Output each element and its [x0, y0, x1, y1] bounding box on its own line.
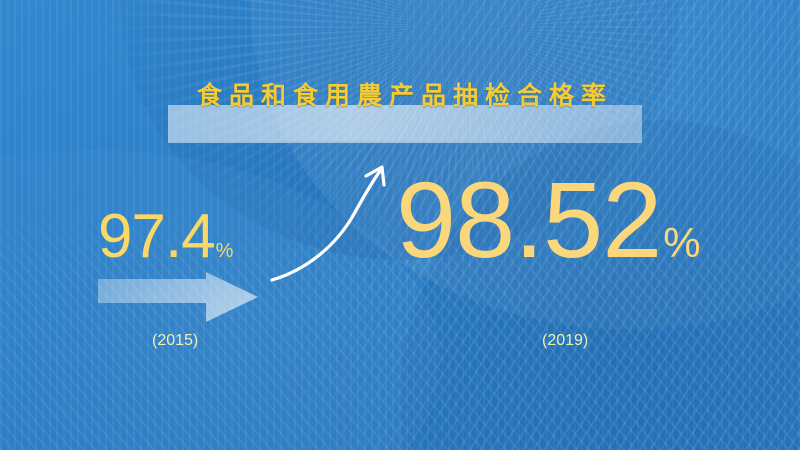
- stat-percent-2015: %: [216, 241, 234, 261]
- curved-growth-arrow-icon: [262, 158, 402, 288]
- stat-value-2019: 98.52: [396, 166, 661, 274]
- infographic-slide: 食品和食用農产品抽检合格率 97.4% (2015) 98.52% (201: [0, 0, 800, 450]
- stat-value-2015: 97.4: [98, 206, 215, 268]
- stat-percent-2019: %: [663, 222, 700, 264]
- stat-block-2015: 97.4% (2015): [98, 206, 278, 268]
- block-arrow-right-icon: [96, 270, 260, 324]
- stat-year-2015: (2015): [152, 332, 198, 350]
- page-title: 食品和食用農产品抽检合格率: [170, 76, 640, 112]
- stat-year-2019: (2019): [542, 332, 588, 350]
- stat-block-2019: 98.52% (2019): [396, 166, 756, 274]
- title-block: 食品和食用農产品抽检合格率: [168, 76, 642, 146]
